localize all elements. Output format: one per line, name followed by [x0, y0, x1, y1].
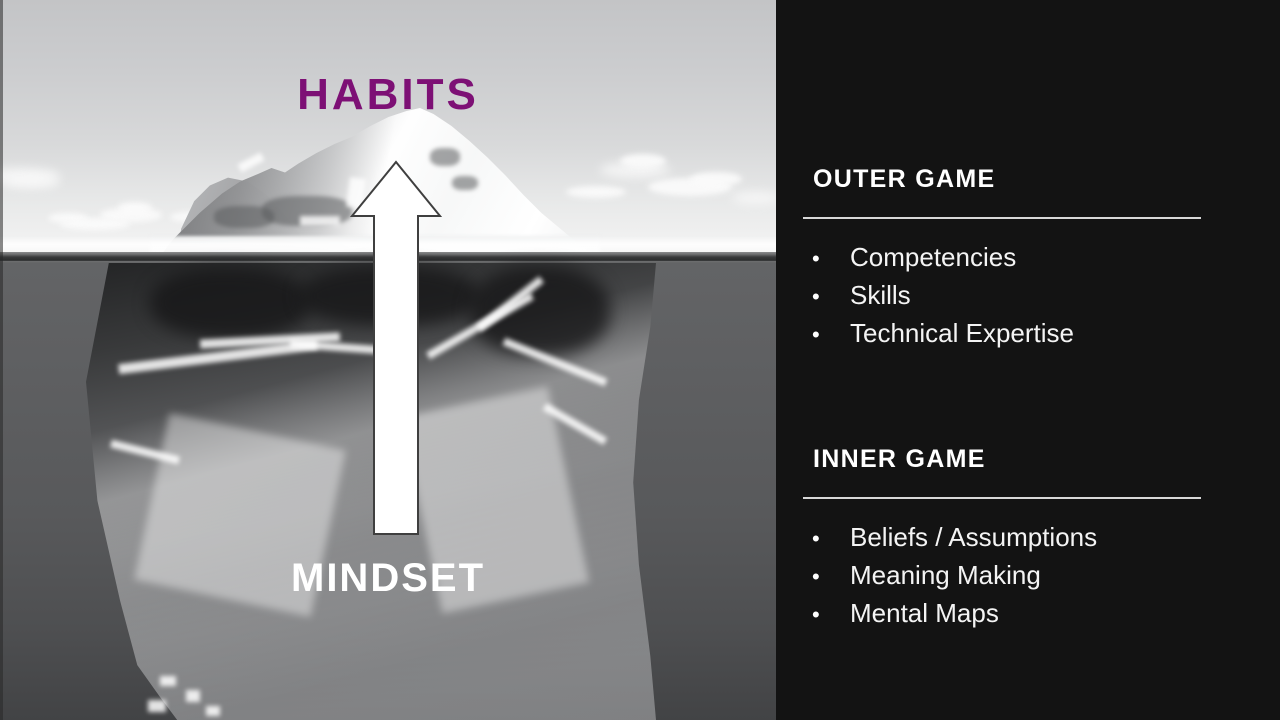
section-inner-game: INNER GAME • Beliefs / Assumptions • Mea…	[776, 445, 1280, 633]
cloud	[118, 202, 152, 214]
list-item: • Beliefs / Assumptions	[812, 519, 1280, 557]
iceberg-crevasse	[452, 176, 478, 190]
cloud	[4, 176, 60, 188]
left-edge-border	[0, 0, 3, 720]
iceberg-sparkle	[160, 676, 176, 686]
list-item-label: Meaning Making	[850, 557, 1280, 594]
cloud	[620, 154, 666, 168]
text-panel: OUTER GAME • Competencies • Skills • Tec…	[776, 0, 1280, 720]
list-item-label: Skills	[850, 277, 1280, 314]
list-item-label: Mental Maps	[850, 595, 1280, 632]
bullet-icon: •	[812, 240, 850, 277]
bullet-icon: •	[812, 596, 850, 633]
list-item-label: Competencies	[850, 239, 1280, 276]
list-item: • Technical Expertise	[812, 315, 1280, 353]
outer-game-list: • Competencies • Skills • Technical Expe…	[776, 239, 1280, 353]
list-item: • Skills	[812, 277, 1280, 315]
bullet-icon: •	[812, 558, 850, 595]
section-divider	[803, 497, 1201, 499]
cloud	[690, 172, 742, 186]
cloud	[48, 213, 88, 223]
list-item: • Competencies	[812, 239, 1280, 277]
inner-game-list: • Beliefs / Assumptions • Meaning Making…	[776, 519, 1280, 633]
upward-arrow	[348, 158, 444, 538]
list-item-label: Technical Expertise	[850, 315, 1280, 352]
section-outer-game: OUTER GAME • Competencies • Skills • Tec…	[776, 165, 1280, 353]
cloud	[732, 192, 776, 204]
list-item: • Mental Maps	[812, 595, 1280, 633]
iceberg-highlight	[300, 216, 340, 226]
section-title-outer-game: OUTER GAME	[776, 165, 1280, 194]
iceberg-sparkle	[186, 690, 200, 702]
section-title-inner-game: INNER GAME	[776, 445, 1280, 474]
habits-label: HABITS	[0, 70, 776, 120]
list-item: • Meaning Making	[812, 557, 1280, 595]
cloud	[566, 186, 626, 198]
bullet-icon: •	[812, 520, 850, 557]
section-divider	[803, 217, 1201, 219]
iceberg-image-panel: HABITS MINDSET	[0, 0, 776, 720]
slide-root: HABITS MINDSET OUTER GAME • Competencies…	[0, 0, 1280, 720]
bullet-icon: •	[812, 278, 850, 315]
iceberg-sparkle	[206, 706, 220, 716]
list-item-label: Beliefs / Assumptions	[850, 519, 1280, 556]
iceberg-sparkle	[148, 700, 166, 712]
bullet-icon: •	[812, 316, 850, 353]
iceberg-crevasse	[214, 206, 274, 228]
iceberg-shadow	[150, 268, 310, 338]
mindset-label: MINDSET	[0, 556, 776, 601]
